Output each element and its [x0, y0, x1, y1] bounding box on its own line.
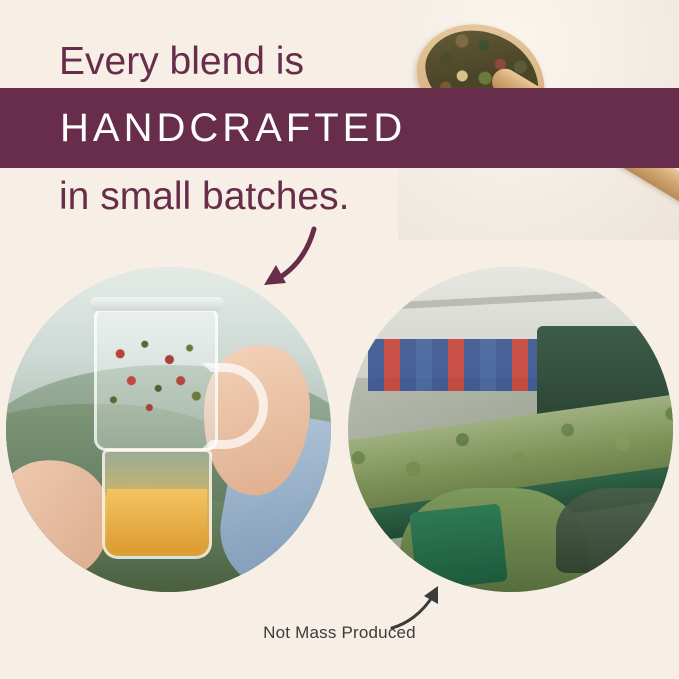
promo-image: Every blend is HANDCRAFTED in small batc… — [0, 0, 679, 679]
photo-conveyor-belt — [348, 267, 673, 592]
infuser-lid — [90, 297, 224, 311]
stacked-crates — [368, 339, 537, 391]
brewed-tea — [107, 489, 207, 553]
green-machine-panel — [409, 503, 508, 590]
headline-line-2: HANDCRAFTED — [60, 100, 406, 156]
steeping-tea-leaves — [100, 325, 212, 421]
headline-line-1: Every blend is — [59, 38, 304, 86]
machine-roller — [556, 488, 667, 573]
photo-tea-infuser — [6, 267, 331, 592]
headline-line-3: in small batches. — [59, 173, 349, 221]
caption-text: Not Mass Produced — [0, 623, 679, 643]
